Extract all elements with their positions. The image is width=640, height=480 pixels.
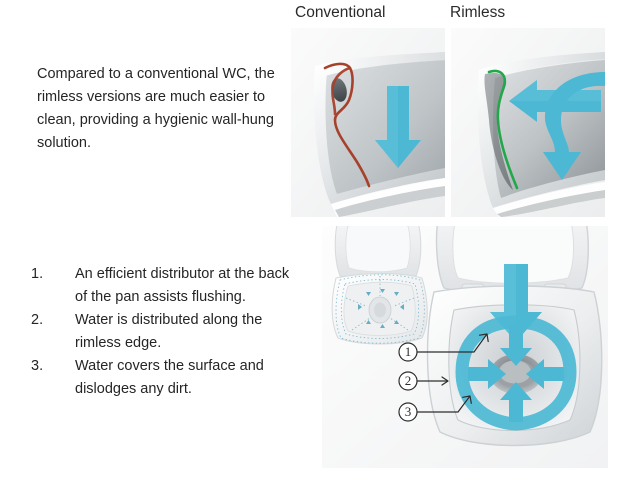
list-item-label: Water covers the surface and dislodges a… (75, 355, 296, 401)
inset-thumbnail (332, 226, 427, 344)
image-panel-topview: 1 2 3 (322, 226, 608, 468)
callout-3-number: 3 (405, 404, 412, 419)
intro-paragraph: Compared to a conventional WC, the rimle… (37, 63, 277, 155)
list-item: 2. Water is distributed along the rimles… (31, 309, 296, 355)
list-item: 3. Water covers the surface and dislodge… (31, 355, 296, 401)
topview-flow-illustration: 1 2 3 (322, 226, 608, 468)
list-item-number: 3. (31, 355, 75, 378)
list-item: 1. An efficient distributor at the back … (31, 263, 296, 309)
panel-title-rimless: Rimless (450, 4, 505, 22)
panel-title-conventional: Conventional (295, 4, 385, 22)
callout-2-number: 2 (405, 373, 412, 388)
image-panel-conventional (291, 28, 445, 217)
list-item-number: 2. (31, 309, 75, 332)
image-panel-rimless (451, 28, 605, 217)
list-item-number: 1. (31, 263, 75, 286)
rimless-cross-section-illustration (451, 28, 605, 217)
list-item-label: Water is distributed along the rimless e… (75, 309, 296, 355)
callout-1-number: 1 (405, 344, 412, 359)
steps-list: 1. An efficient distributor at the back … (31, 263, 296, 401)
conventional-cross-section-illustration (291, 28, 445, 217)
list-item-label: An efficient distributor at the back of … (75, 263, 296, 309)
